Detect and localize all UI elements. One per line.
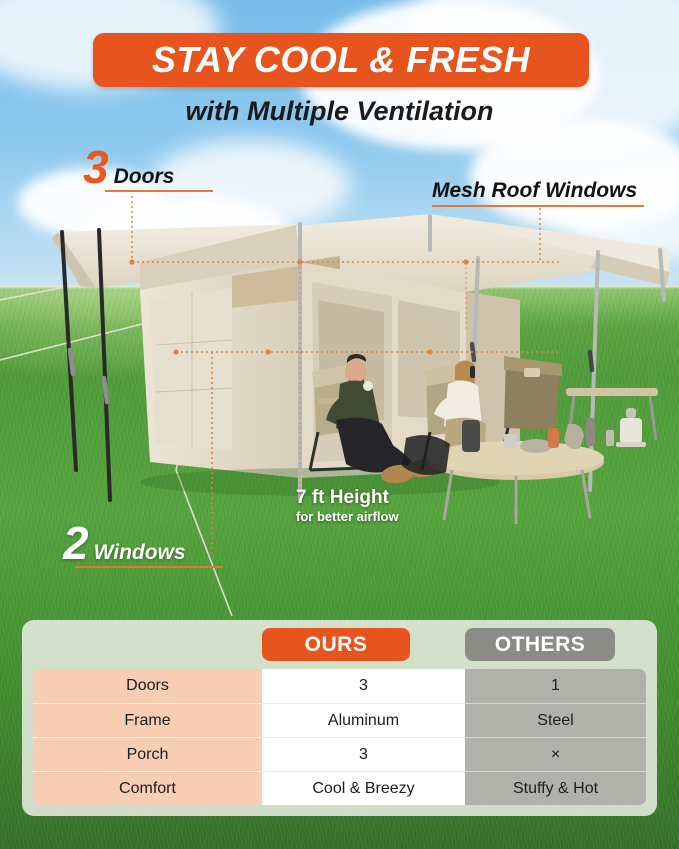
callout-doors-label: Doors <box>114 166 175 187</box>
subheadline-text: with Multiple Ventilation <box>0 96 679 127</box>
headline-text: STAY COOL & FRESH <box>152 42 530 78</box>
comparison-header: OURS OTHERS <box>22 628 657 664</box>
row-ours-doors: 3 <box>262 669 465 703</box>
table-row: Doors31 <box>33 669 646 703</box>
gear-bag <box>402 435 450 475</box>
callout-windows-underline <box>75 566 223 568</box>
row-others-doors: 1 <box>465 669 646 703</box>
row-others-comfort: Stuffy & Hot <box>465 771 646 805</box>
callout-height-subtitle: for better airflow <box>296 509 399 525</box>
column-header-ours: OURS <box>262 628 410 661</box>
row-others-porch: × <box>465 737 646 771</box>
comparison-table: OURS OTHERS Doors31FrameAluminumSteelPor… <box>22 620 657 816</box>
row-ours-comfort: Cool & Breezy <box>262 771 465 805</box>
row-label-frame: Frame <box>33 703 262 737</box>
column-header-others: OTHERS <box>465 628 615 661</box>
row-ours-frame: Aluminum <box>262 703 465 737</box>
callout-doors: 3 Doors <box>83 148 213 192</box>
table-row: ComfortCool & BreezyStuffy & Hot <box>33 771 646 805</box>
callout-doors-underline <box>105 190 213 192</box>
callout-windows: 2 Windows <box>63 524 223 568</box>
row-label-comfort: Comfort <box>33 771 262 805</box>
callout-height: 7 ft Height for better airflow <box>296 488 399 524</box>
callout-height-title: 7 ft Height <box>296 488 399 509</box>
product-poster: STAY COOL & FRESH with Multiple Ventilat… <box>0 0 679 849</box>
row-ours-porch: 3 <box>262 737 465 771</box>
tent-window-mesh-left <box>150 288 232 450</box>
row-label-porch: Porch <box>33 737 262 771</box>
callout-mesh-label: Mesh Roof Windows <box>432 180 644 201</box>
callout-windows-label: Windows <box>94 542 186 563</box>
headline-banner: STAY COOL & FRESH <box>93 33 589 87</box>
row-others-frame: Steel <box>465 703 646 737</box>
callout-doors-number: 3 <box>83 148 109 187</box>
callout-windows-row: 2 Windows <box>63 524 223 563</box>
callout-windows-number: 2 <box>63 524 89 563</box>
callout-mesh-underline <box>432 205 644 207</box>
row-label-doors: Doors <box>33 669 262 703</box>
callout-doors-row: 3 Doors <box>83 148 213 187</box>
comparison-rows: Doors31FrameAluminumSteelPorch3×ComfortC… <box>33 669 646 805</box>
callout-mesh-roof: Mesh Roof Windows <box>432 180 644 207</box>
table-row: FrameAluminumSteel <box>33 703 646 737</box>
table-row: Porch3× <box>33 737 646 771</box>
